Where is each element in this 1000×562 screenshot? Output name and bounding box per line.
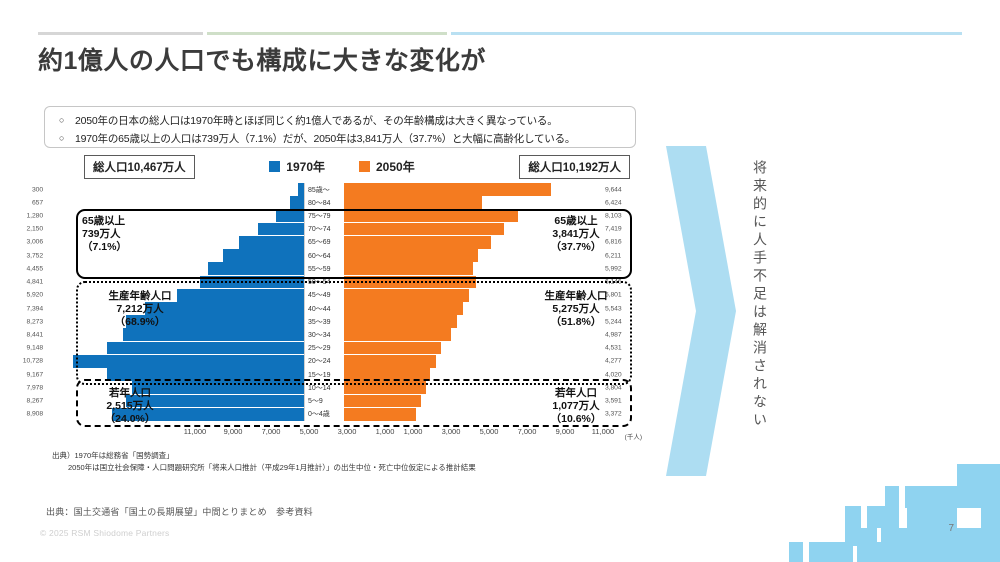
source-note-line1: 出典）1970年は総務省「国勢調査」 <box>52 450 672 462</box>
bar-1970[interactable]: 4,841 <box>200 276 304 289</box>
x-axis-tick: 9,000 <box>546 427 584 441</box>
circle-bullet-icon: ○ <box>59 134 75 143</box>
footer-source: 出典：国土交通省「国土の長期展望」中間とりまとめ 参考資料 <box>46 505 313 518</box>
bar-2050[interactable]: 6,424 <box>344 196 482 209</box>
callout-line3: （10.6%） <box>526 413 626 426</box>
legend-item-1970: 1970年 <box>269 158 325 175</box>
age-group-label: 5～9 <box>304 395 344 408</box>
bar-2050[interactable]: 4,020 <box>344 368 430 381</box>
bar-value-label-1970: 8,273 <box>26 318 43 325</box>
top-rule-green <box>207 32 447 35</box>
axis-unit-label: (千人) <box>625 431 642 441</box>
bar-value-label-1970: 3,752 <box>26 252 43 259</box>
callout-left-working: 生産年齢人口 7,212万人 （68.9%） <box>76 286 204 333</box>
callout-left-young: 若年人口 2,515万人 （24.0%） <box>70 383 190 430</box>
age-group-label: 80～84 <box>304 196 344 209</box>
bar-value-label-1970: 5,920 <box>26 292 43 299</box>
callout-line1: 生産年齢人口 <box>526 290 626 303</box>
bar-value-label-2050: 9,644 <box>605 186 622 193</box>
callout-line2: 1,077万人 <box>526 400 626 413</box>
legend-label-1970: 1970年 <box>286 158 325 175</box>
x-axis-tick: 3,000 <box>432 427 470 441</box>
pyramid-bar-cell-1970: 9,148 <box>46 342 304 355</box>
bar-2050[interactable]: 4,987 <box>344 328 451 341</box>
bar-value-label-1970: 10,728 <box>23 358 43 365</box>
top-rule-gray <box>38 32 203 35</box>
side-message: 将来的に人手不足は解消されない <box>748 160 768 460</box>
bar-2050[interactable]: 8,103 <box>344 209 518 222</box>
callout-line2: 2,515万人 <box>76 400 184 413</box>
source-notes: 出典）1970年は総務省「国勢調査」 2050年は国立社会保障・人口問題研究所「… <box>52 450 672 473</box>
callout-line2: 739万人 <box>82 228 188 241</box>
bullet-text: 1970年の65歳以上の人口は739万人（7.1%）だが、2050年は3,841… <box>75 131 575 146</box>
pyramid-row: 30085歳～9,644 <box>46 183 638 196</box>
age-group-label: 75～79 <box>304 209 344 222</box>
page-number: 7 <box>948 523 954 534</box>
bar-value-label-2050: 5,992 <box>605 265 622 272</box>
bar-1970[interactable]: 657 <box>290 196 304 209</box>
legend-swatch-orange <box>359 161 370 172</box>
bar-value-label-1970: 4,841 <box>26 279 43 286</box>
callout-right-young: 若年人口 1,077万人 （10.6%） <box>520 383 632 430</box>
x-axis-tick: 3,000 <box>328 427 366 441</box>
bar-1970[interactable]: 9,148 <box>107 342 304 355</box>
bar-2050[interactable]: 3,591 <box>344 395 421 408</box>
bar-value-label-1970: 8,908 <box>26 411 43 418</box>
page-title: 約1億人の人口でも構成に大きな変化が <box>38 46 738 76</box>
legend-item-2050: 2050年 <box>359 158 415 175</box>
age-group-label: 45～49 <box>304 289 344 302</box>
age-group-label: 10～14 <box>304 381 344 394</box>
bar-2050[interactable]: 5,801 <box>344 289 469 302</box>
bar-1970[interactable]: 10,728 <box>73 355 304 368</box>
age-group-label: 40～44 <box>304 302 344 315</box>
x-axis-tick: 1,000 <box>394 427 432 441</box>
pyramid-plot: 30085歳～9,64465780～846,4241,28075～798,103… <box>46 183 638 421</box>
x-axis-tick: 9,000 <box>214 427 252 441</box>
circle-bullet-icon: ○ <box>59 116 75 125</box>
bar-2050[interactable]: 5,543 <box>344 302 463 315</box>
top-rule-group <box>38 32 962 35</box>
age-group-label: 0～4歳 <box>304 408 344 421</box>
pyramid-row: 9,14825～294,531 <box>46 342 638 355</box>
age-group-label: 65～69 <box>304 236 344 249</box>
age-group-label: 70～74 <box>304 223 344 236</box>
bar-2050[interactable]: 9,644 <box>344 183 551 196</box>
callout-line3: （51.8%） <box>526 316 626 329</box>
pyramid-row: 65780～846,424 <box>46 196 638 209</box>
bar-2050[interactable]: 4,531 <box>344 342 441 355</box>
callout-line3: （37.7%） <box>526 241 626 254</box>
bar-value-label-1970: 7,394 <box>26 305 43 312</box>
bar-value-label-1970: 657 <box>32 199 43 206</box>
bar-2050[interactable]: 3,804 <box>344 381 426 394</box>
pyramid-bar-cell-2050: 4,277 <box>344 355 602 368</box>
bullet-item: ○ 2050年の日本の総人口は1970年時とほぼ同じく約1億人であるが、その年齢… <box>45 111 635 129</box>
callout-line1: 若年人口 <box>76 387 184 400</box>
callout-line3: （24.0%） <box>76 413 184 426</box>
bar-1970[interactable]: 3,752 <box>223 249 304 262</box>
legend-label-2050: 2050年 <box>376 158 415 175</box>
bar-2050[interactable]: 6,211 <box>344 249 478 262</box>
copyright-notice: © 2025 RSM Shiodome Partners <box>40 528 170 538</box>
callout-line2: 5,275万人 <box>526 303 626 316</box>
pyramid-row: 4,45555～595,992 <box>46 262 638 275</box>
bar-1970[interactable]: 4,455 <box>208 262 304 275</box>
callout-line2: 3,841万人 <box>526 228 626 241</box>
bullet-item: ○ 1970年の65歳以上の人口は739万人（7.1%）だが、2050年は3,8… <box>45 129 635 147</box>
pyramid-bar-cell-2050: 4,531 <box>344 342 602 355</box>
pyramid-bar-cell-2050: 4,020 <box>344 368 602 381</box>
legend-swatch-blue <box>269 161 280 172</box>
bar-2050[interactable]: 3,372 <box>344 408 416 421</box>
bar-value-label-1970: 9,148 <box>26 345 43 352</box>
pyramid-row: 10,72820～244,277 <box>46 355 638 368</box>
bar-value-label-2050: 4,277 <box>605 358 622 365</box>
bar-1970[interactable]: 3,006 <box>239 236 304 249</box>
bar-value-label-1970: 3,006 <box>26 239 43 246</box>
age-group-label: 25～29 <box>304 342 344 355</box>
bar-value-label-1970: 8,441 <box>26 332 43 339</box>
age-group-label: 20～24 <box>304 355 344 368</box>
bar-2050[interactable]: 7,419 <box>344 223 504 236</box>
chart-x-axis: 11,0009,0007,0005,0003,0001,000 1,0003,0… <box>46 427 638 443</box>
callout-right-working: 生産年齢人口 5,275万人 （51.8%） <box>520 286 632 333</box>
bar-2050[interactable]: 4,277 <box>344 355 436 368</box>
age-group-label: 55～59 <box>304 262 344 275</box>
bar-2050[interactable]: 5,244 <box>344 315 457 328</box>
x-axis-tick: 7,000 <box>508 427 546 441</box>
total-population-2050: 総人口10,192万人 <box>519 155 630 179</box>
bar-value-label-2050: 4,531 <box>605 345 622 352</box>
bar-value-label-1970: 2,150 <box>26 226 43 233</box>
bullet-text: 2050年の日本の総人口は1970年時とほぼ同じく約1億人であるが、その年齢構成… <box>75 113 558 128</box>
callout-line1: 65歳以上 <box>82 215 188 228</box>
bar-value-label-1970: 4,455 <box>26 265 43 272</box>
bar-value-label-2050: 4,020 <box>605 371 622 378</box>
top-rule-blue <box>451 32 962 35</box>
summary-bullet-box: ○ 2050年の日本の総人口は1970年時とほぼ同じく約1億人であるが、その年齢… <box>44 106 636 148</box>
pyramid-bar-cell-1970: 9,167 <box>46 368 304 381</box>
mosaic-decoration <box>785 450 1000 562</box>
bar-2050[interactable]: 6,146 <box>344 276 476 289</box>
x-axis-left: 11,0009,0007,0005,0003,0001,000 <box>176 427 404 441</box>
pyramid-bar-cell-1970: 657 <box>46 196 304 209</box>
age-group-label: 35～39 <box>304 315 344 328</box>
callout-line3: （68.9%） <box>82 316 198 329</box>
callout-left-senior: 65歳以上 739万人 （7.1%） <box>76 211 194 258</box>
bar-1970[interactable]: 300 <box>298 183 304 196</box>
bar-1970[interactable]: 2,150 <box>258 223 304 236</box>
age-group-label: 30～34 <box>304 328 344 341</box>
bar-1970[interactable]: 1,280 <box>276 209 304 222</box>
x-axis-tick: 7,000 <box>252 427 290 441</box>
pyramid-bar-cell-1970: 10,728 <box>46 355 304 368</box>
age-group-label: 15～19 <box>304 368 344 381</box>
bar-value-label-2050: 6,146 <box>605 279 622 286</box>
callout-line2: 7,212万人 <box>82 303 198 316</box>
callout-line3: （7.1%） <box>82 241 188 254</box>
bar-value-label-1970: 8,267 <box>26 398 43 405</box>
callout-line1: 若年人口 <box>526 387 626 400</box>
pyramid-bar-cell-2050: 6,424 <box>344 196 602 209</box>
pyramid-bar-cell-2050: 5,992 <box>344 262 602 275</box>
callout-line1: 65歳以上 <box>526 215 626 228</box>
x-axis-tick: 11,000 <box>584 427 622 441</box>
x-axis-tick: 5,000 <box>290 427 328 441</box>
slide: 約1億人の人口でも構成に大きな変化が ○ 2050年の日本の総人口は1970年時… <box>0 0 1000 562</box>
age-group-label: 50～54 <box>304 276 344 289</box>
callout-right-senior: 65歳以上 3,841万人 （37.7%） <box>520 211 632 258</box>
pyramid-bar-cell-1970: 4,455 <box>46 262 304 275</box>
x-axis-right: 1,0003,0005,0007,0009,00011,000 <box>394 427 622 441</box>
bar-value-label-1970: 1,280 <box>26 213 43 220</box>
source-note-line2: 2050年は国立社会保障・人口問題研究所「将来人口推計（平成29年1月推計）」の… <box>52 462 672 474</box>
pyramid-bar-cell-2050: 9,644 <box>344 183 602 196</box>
chart-legend-row: 総人口10,467万人 1970年 2050年 総人口10,192万人 <box>46 155 638 179</box>
bar-2050[interactable]: 6,816 <box>344 236 491 249</box>
bar-2050[interactable]: 5,992 <box>344 262 473 275</box>
x-axis-tick: 11,000 <box>176 427 214 441</box>
bar-value-label-1970: 300 <box>32 186 43 193</box>
age-group-label: 60～64 <box>304 249 344 262</box>
x-axis-tick: 5,000 <box>470 427 508 441</box>
bar-value-label-2050: 6,424 <box>605 199 622 206</box>
bar-value-label-1970: 9,167 <box>26 371 43 378</box>
bar-value-label-1970: 7,978 <box>26 384 43 391</box>
bar-1970[interactable]: 9,167 <box>107 368 304 381</box>
age-group-label: 85歳～ <box>304 183 344 196</box>
right-arrow-shape <box>666 146 736 476</box>
pyramid-row: 9,16715～194,020 <box>46 368 638 381</box>
callout-line1: 生産年齢人口 <box>82 290 198 303</box>
population-pyramid-chart: 総人口10,467万人 1970年 2050年 総人口10,192万人 3008… <box>46 155 638 455</box>
pyramid-bar-cell-1970: 300 <box>46 183 304 196</box>
